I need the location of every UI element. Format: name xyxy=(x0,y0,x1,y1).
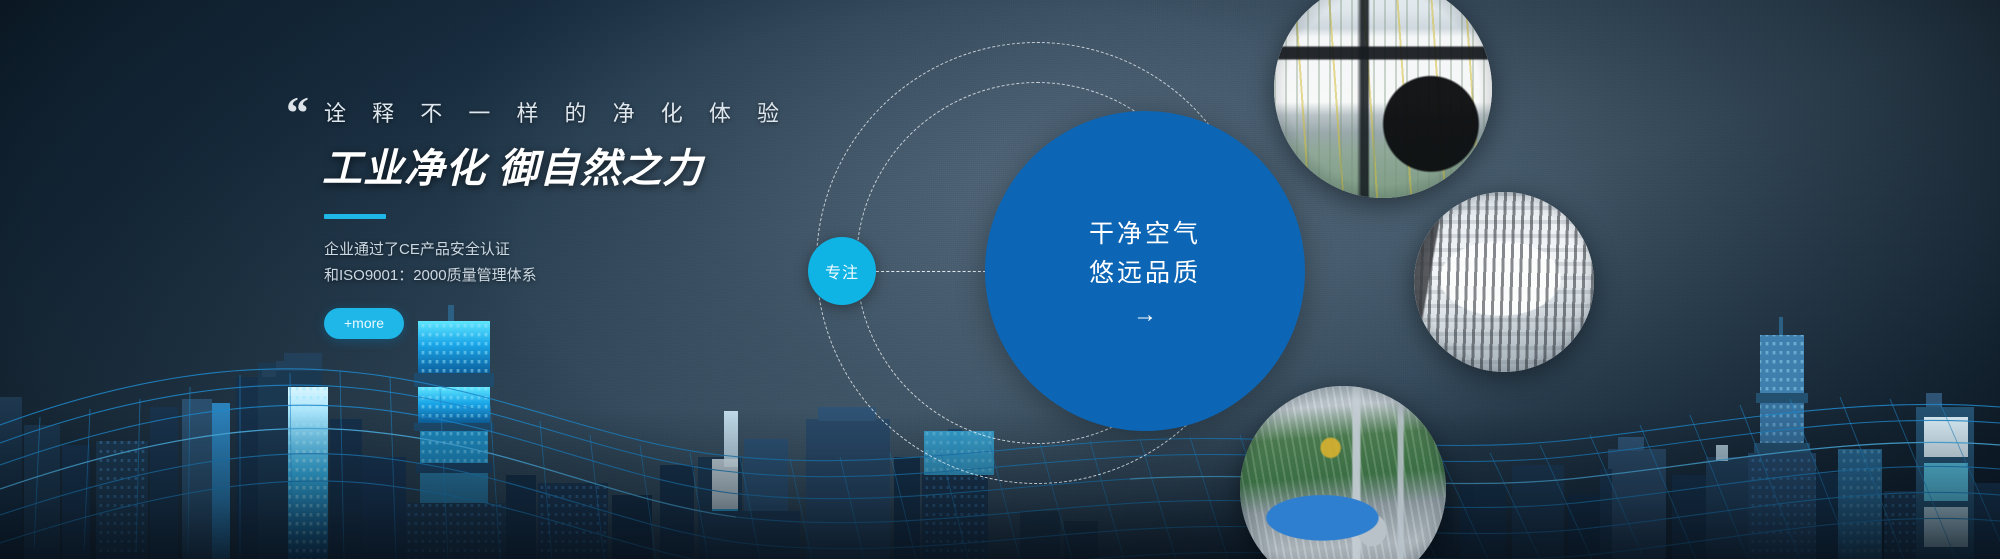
hero-banner: “ 诠 释 不 一 样 的 净 化 体 验 工业净化 御自然之力 企业通过了CE… xyxy=(0,0,2000,559)
accent-rule xyxy=(324,214,386,219)
quote-mark-icon: “ xyxy=(286,90,307,136)
factory-hall-photo xyxy=(1274,0,1492,198)
more-button[interactable]: +more xyxy=(324,308,404,339)
piping-valves-photo-image xyxy=(1240,386,1446,559)
dashed-connector-line xyxy=(876,271,986,272)
factory-hall-photo-image xyxy=(1274,0,1492,198)
main-slogan-circle[interactable]: 干净空气 悠远品质 → xyxy=(985,111,1305,431)
hero-headline: 工业净化 御自然之力 xyxy=(322,136,868,194)
slogan-line-1: 干净空气 xyxy=(1089,215,1201,254)
slogan-line-2: 悠远品质 xyxy=(1089,254,1201,293)
textile-machinery-photo-image xyxy=(1414,192,1594,372)
hero-text-block: “ 诠 释 不 一 样 的 净 化 体 验 工业净化 御自然之力 企业通过了CE… xyxy=(308,96,868,339)
textile-machinery-photo xyxy=(1414,192,1594,372)
arrow-right-icon[interactable]: → xyxy=(1133,303,1157,327)
piping-valves-photo xyxy=(1240,386,1446,559)
hero-subtext: 企业通过了CE产品安全认证 和ISO9001：2000质量管理体系 xyxy=(324,237,868,290)
hero-subtext-line-1: 企业通过了CE产品安全认证 xyxy=(324,241,510,258)
hero-subtext-line-2: 和ISO9001：2000质量管理体系 xyxy=(324,267,537,284)
hero-eyebrow: 诠 释 不 一 样 的 净 化 体 验 xyxy=(324,96,868,128)
